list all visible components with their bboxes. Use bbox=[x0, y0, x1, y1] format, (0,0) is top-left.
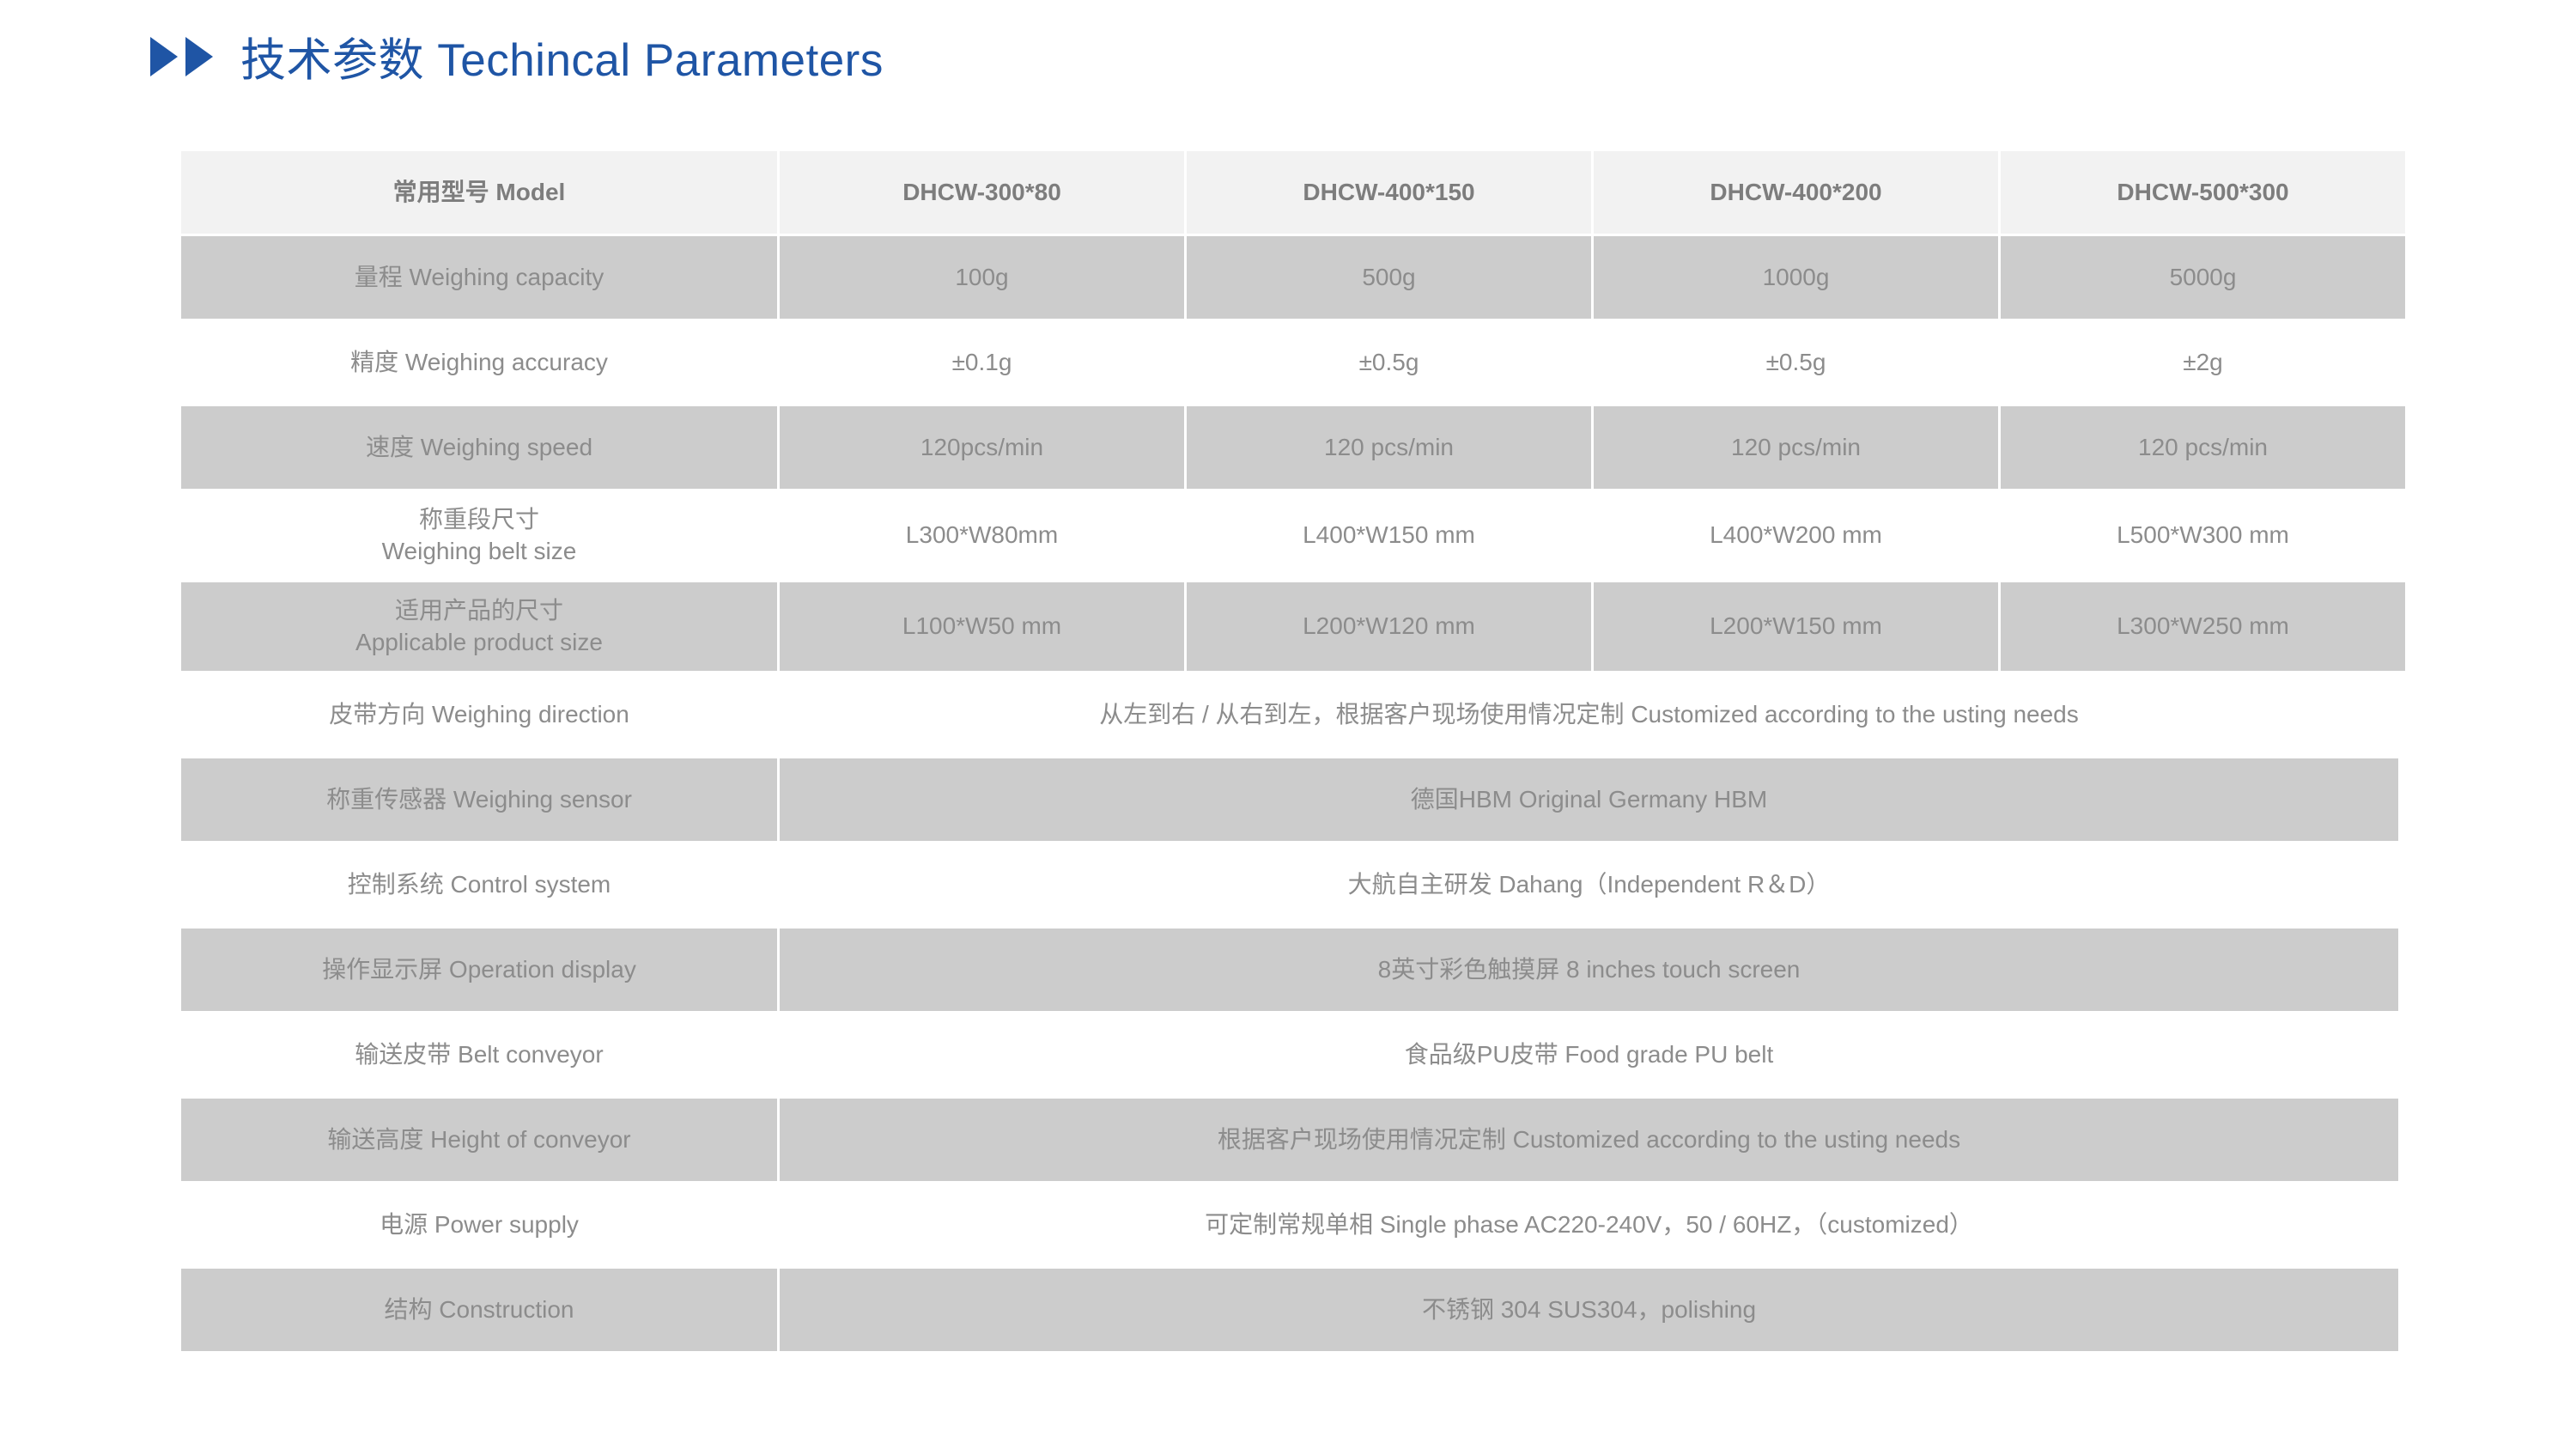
row-label: 控制系统 Control system bbox=[181, 843, 777, 926]
triangle-right-icon-2 bbox=[185, 37, 213, 76]
row-value: 120pcs/min bbox=[780, 406, 1184, 489]
row-label: 皮带方向 Weighing direction bbox=[181, 673, 777, 756]
column-header-1: DHCW-300*80 bbox=[780, 151, 1184, 234]
row-value: L200*W120 mm bbox=[1187, 582, 1591, 671]
row-merged-value: 食品级PU皮带 Food grade PU belt bbox=[780, 1014, 2398, 1096]
row-value: ±0.5g bbox=[1187, 321, 1591, 404]
technical-parameters-table: 常用型号 ModelDHCW-300*80DHCW-400*150DHCW-40… bbox=[181, 151, 2396, 1351]
row-value: 500g bbox=[1187, 236, 1591, 319]
table-row: 控制系统 Control system大航自主研发 Dahang（Indepen… bbox=[181, 843, 2396, 926]
row-merged-value: 大航自主研发 Dahang（Independent R＆D） bbox=[780, 843, 2398, 926]
row-merged-value: 8英寸彩色触摸屏 8 inches touch screen bbox=[780, 929, 2398, 1011]
technical-parameters-page: 技术参数 Techincal Parameters 常用型号 ModelDHCW… bbox=[0, 0, 2576, 1443]
row-value: 5000g bbox=[2001, 236, 2405, 319]
table-row: 输送皮带 Belt conveyor食品级PU皮带 Food grade PU … bbox=[181, 1014, 2396, 1096]
row-value: ±2g bbox=[2001, 321, 2405, 404]
column-header-model: 常用型号 Model bbox=[181, 151, 777, 234]
row-value: 100g bbox=[780, 236, 1184, 319]
table-row: 称重段尺寸 Weighing belt sizeL300*W80mmL400*W… bbox=[181, 491, 2396, 580]
table-row: 精度 Weighing accuracy±0.1g±0.5g±0.5g±2g bbox=[181, 321, 2396, 404]
row-value: L200*W150 mm bbox=[1594, 582, 1998, 671]
row-merged-value: 可定制常规单相 Single phase AC220-240V，50 / 60H… bbox=[780, 1184, 2398, 1266]
row-value: L400*W150 mm bbox=[1187, 491, 1591, 580]
triangle-right-icon-1 bbox=[150, 37, 178, 76]
row-value: ±0.1g bbox=[780, 321, 1184, 404]
column-header-4: DHCW-500*300 bbox=[2001, 151, 2405, 234]
row-label: 精度 Weighing accuracy bbox=[181, 321, 777, 404]
row-merged-value: 不锈钢 304 SUS304，polishing bbox=[780, 1269, 2398, 1351]
table-row: 皮带方向 Weighing direction从左到右 / 从右到左，根据客户现… bbox=[181, 673, 2396, 756]
row-label: 称重段尺寸 Weighing belt size bbox=[181, 491, 777, 580]
table-row: 速度 Weighing speed120pcs/min120 pcs/min12… bbox=[181, 406, 2396, 489]
row-label: 输送高度 Height of conveyor bbox=[181, 1099, 777, 1181]
table-row: 适用产品的尺寸 Applicable product sizeL100*W50 … bbox=[181, 582, 2396, 671]
row-value: L500*W300 mm bbox=[2001, 491, 2405, 580]
table-header-row: 常用型号 ModelDHCW-300*80DHCW-400*150DHCW-40… bbox=[181, 151, 2396, 234]
table-row: 量程 Weighing capacity100g500g1000g5000g bbox=[181, 236, 2396, 319]
row-value: 120 pcs/min bbox=[2001, 406, 2405, 489]
row-value: 120 pcs/min bbox=[1594, 406, 1998, 489]
row-label: 速度 Weighing speed bbox=[181, 406, 777, 489]
row-label: 操作显示屏 Operation display bbox=[181, 929, 777, 1011]
row-value: ±0.5g bbox=[1594, 321, 1998, 404]
double-triangle-right-icon bbox=[150, 37, 213, 76]
row-merged-value: 从左到右 / 从右到左，根据客户现场使用情况定制 Customized acco… bbox=[780, 673, 2398, 756]
page-title-bar: 技术参数 Techincal Parameters bbox=[150, 26, 884, 88]
column-header-3: DHCW-400*200 bbox=[1594, 151, 1998, 234]
table-row: 电源 Power supply可定制常规单相 Single phase AC22… bbox=[181, 1184, 2396, 1266]
row-value: L300*W80mm bbox=[780, 491, 1184, 580]
row-merged-value: 根据客户现场使用情况定制 Customized according to the… bbox=[780, 1099, 2398, 1181]
row-label: 结构 Construction bbox=[181, 1269, 777, 1351]
row-merged-value: 德国HBM Original Germany HBM bbox=[780, 758, 2398, 841]
table-row: 输送高度 Height of conveyor根据客户现场使用情况定制 Cust… bbox=[181, 1099, 2396, 1181]
page-title: 技术参数 Techincal Parameters bbox=[240, 24, 884, 89]
table-row: 结构 Construction不锈钢 304 SUS304，polishing bbox=[181, 1269, 2396, 1351]
row-label: 电源 Power supply bbox=[181, 1184, 777, 1266]
row-value: L100*W50 mm bbox=[780, 582, 1184, 671]
column-header-2: DHCW-400*150 bbox=[1187, 151, 1591, 234]
table-row: 操作显示屏 Operation display8英寸彩色触摸屏 8 inches… bbox=[181, 929, 2396, 1011]
row-label: 适用产品的尺寸 Applicable product size bbox=[181, 582, 777, 671]
row-value: 1000g bbox=[1594, 236, 1998, 319]
row-label: 量程 Weighing capacity bbox=[181, 236, 777, 319]
row-value: L300*W250 mm bbox=[2001, 582, 2405, 671]
row-label: 称重传感器 Weighing sensor bbox=[181, 758, 777, 841]
row-value: 120 pcs/min bbox=[1187, 406, 1591, 489]
row-label: 输送皮带 Belt conveyor bbox=[181, 1014, 777, 1096]
row-value: L400*W200 mm bbox=[1594, 491, 1998, 580]
table-row: 称重传感器 Weighing sensor德国HBM Original Germ… bbox=[181, 758, 2396, 841]
